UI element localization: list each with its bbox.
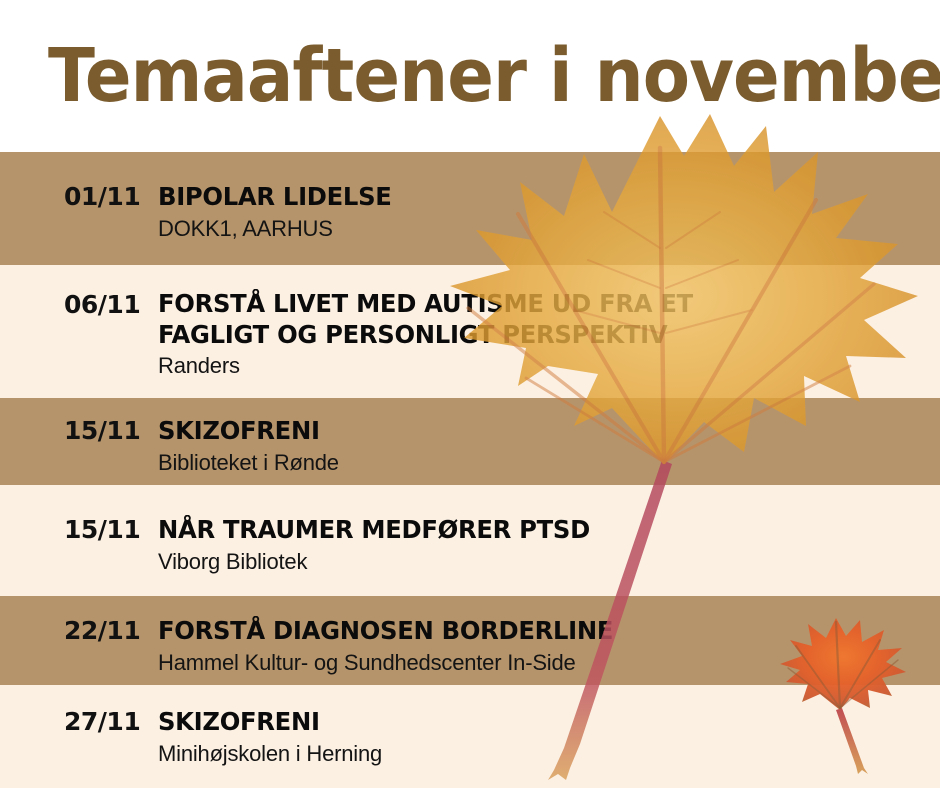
event-date: 27/11 (0, 685, 158, 734)
event-title: FORSTÅ LIVET MED AUTISME UD FRA ET FAGLI… (158, 289, 907, 350)
schedule-list: 01/11 BIPOLAR LIDELSE DOKK1, AARHUS 06/1… (0, 152, 940, 788)
event-body: FORSTÅ DIAGNOSEN BORDERLINE Hammel Kultu… (158, 596, 940, 676)
poster-header: Temaaftener i november (0, 0, 940, 152)
event-venue: DOKK1, AARHUS (158, 216, 930, 242)
event-title: SKIZOFRENI (158, 707, 907, 738)
event-title: BIPOLAR LIDELSE (158, 182, 907, 213)
schedule-row[interactable]: 27/11 SKIZOFRENI Minihøjskolen i Herning (0, 685, 940, 788)
event-venue: Hammel Kultur- og Sundhedscenter In-Side (158, 650, 930, 676)
schedule-row[interactable]: 22/11 FORSTÅ DIAGNOSEN BORDERLINE Hammel… (0, 596, 940, 685)
event-date: 06/11 (0, 265, 158, 317)
event-body: SKIZOFRENI Biblioteket i Rønde (158, 398, 940, 476)
event-venue: Randers (158, 353, 930, 379)
event-venue: Minihøjskolen i Herning (158, 741, 930, 767)
event-date: 01/11 (0, 152, 158, 209)
event-date: 22/11 (0, 596, 158, 643)
event-venue: Biblioteket i Rønde (158, 450, 930, 476)
schedule-row[interactable]: 06/11 FORSTÅ LIVET MED AUTISME UD FRA ET… (0, 265, 940, 398)
schedule-row[interactable]: 15/11 NÅR TRAUMER MEDFØRER PTSD Viborg B… (0, 485, 940, 596)
event-title: NÅR TRAUMER MEDFØRER PTSD (158, 515, 907, 546)
event-venue: Viborg Bibliotek (158, 549, 930, 575)
event-body: BIPOLAR LIDELSE DOKK1, AARHUS (158, 152, 940, 242)
event-body: SKIZOFRENI Minihøjskolen i Herning (158, 685, 940, 767)
schedule-row[interactable]: 01/11 BIPOLAR LIDELSE DOKK1, AARHUS (0, 152, 940, 265)
event-title: SKIZOFRENI (158, 416, 907, 447)
event-body: NÅR TRAUMER MEDFØRER PTSD Viborg Bibliot… (158, 485, 940, 575)
event-date: 15/11 (0, 398, 158, 443)
event-body: FORSTÅ LIVET MED AUTISME UD FRA ET FAGLI… (158, 265, 940, 379)
page-title: Temaaftener i november (48, 39, 940, 113)
event-title: FORSTÅ DIAGNOSEN BORDERLINE (158, 616, 907, 647)
schedule-row[interactable]: 15/11 SKIZOFRENI Biblioteket i Rønde (0, 398, 940, 485)
event-date: 15/11 (0, 485, 158, 542)
poster-canvas: Temaaftener i november 01/11 BIPOLAR LID… (0, 0, 940, 788)
